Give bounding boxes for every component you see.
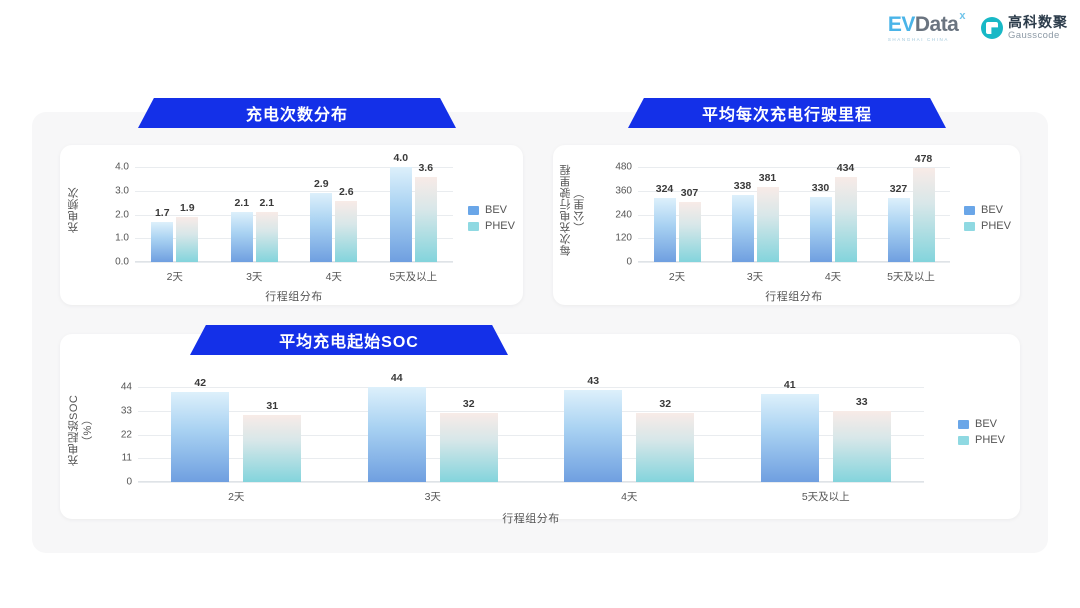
evdata-ev-text: EV [888, 14, 915, 35]
x-axis-label: 行程组分布 [638, 288, 950, 304]
bar-bev[interactable]: 324 [654, 198, 676, 262]
y-axis-ticks: 0120240360480 [596, 158, 632, 262]
legend-label-phev: PHEV [485, 220, 515, 232]
chart-legend: BEVPHEV [468, 204, 515, 232]
bar-value-label: 2.1 [259, 197, 274, 209]
y-axis-ticks: 0.01.02.03.04.0 [93, 158, 129, 262]
bar-groups: 4231443243324133 [138, 378, 924, 482]
y-axis-tick-label: 0 [126, 477, 132, 488]
bar-value-label: 307 [681, 187, 699, 199]
chart-legend: BEVPHEV [958, 418, 1005, 446]
legend-item-bev[interactable]: BEV [964, 204, 1011, 216]
evdata-data-text: Data [915, 14, 959, 35]
plot-area: 324307338381330434327478 [638, 158, 950, 262]
y-axis-tick-label: 360 [615, 186, 632, 197]
bar-bev[interactable]: 2.1 [231, 212, 253, 262]
evdata-logo-icon: EV Data x SHANGHAI CHINA [888, 14, 965, 42]
bar-value-label: 381 [759, 172, 777, 184]
bar-group: 330434 [794, 158, 872, 262]
legend-item-phev[interactable]: PHEV [964, 220, 1011, 232]
x-axis-ticks: 2天3天4天5天及以上 [135, 269, 453, 284]
x-axis-tick-label: 3天 [716, 269, 794, 284]
legend-swatch-bev [958, 420, 969, 429]
bar-phev[interactable]: 434 [835, 177, 857, 262]
gausscode-wordmark: 高科数聚 Gausscode [1008, 15, 1068, 41]
bar-value-label: 434 [837, 162, 855, 174]
legend-swatch-bev [964, 206, 975, 215]
bar-value-label: 31 [266, 400, 278, 412]
bar-bev[interactable]: 338 [732, 195, 754, 262]
y-axis-tick-label: 11 [122, 453, 132, 464]
bar-group: 4231 [138, 378, 335, 482]
x-axis-tick-label: 2天 [638, 269, 716, 284]
bar-value-label: 4.0 [393, 152, 408, 164]
x-axis-label: 行程组分布 [135, 288, 453, 304]
bar-phev[interactable]: 478 [913, 168, 935, 262]
bar-group: 4332 [531, 378, 728, 482]
y-axis-tick-label: 22 [121, 429, 132, 440]
gridline [638, 262, 950, 263]
bar-bev[interactable]: 330 [810, 197, 832, 262]
chart-title-banner-charging-frequency: 充电次数分布 [138, 98, 456, 128]
bar-groups: 1.71.92.12.12.92.64.03.6 [135, 158, 453, 262]
bar-group: 327478 [872, 158, 950, 262]
legend-item-bev[interactable]: BEV [468, 204, 515, 216]
x-axis-tick-label: 2天 [135, 269, 215, 284]
bar-value-label: 2.9 [314, 178, 329, 190]
bar-bev[interactable]: 43 [564, 390, 622, 482]
bar-phev[interactable]: 2.1 [256, 212, 278, 262]
bar-value-label: 41 [784, 379, 796, 391]
bar-value-label: 1.7 [155, 207, 170, 219]
bar-bev[interactable]: 327 [888, 198, 910, 262]
evdata-wordmark: EV Data x [888, 14, 965, 35]
x-axis-ticks: 2天3天4天5天及以上 [138, 489, 924, 504]
bar-phev[interactable]: 3.6 [415, 177, 437, 262]
chart-avg-start-soc: 充电起始SOC（%）01122334442314432433241332天3天4… [60, 352, 1030, 532]
x-axis-tick-label: 5天及以上 [872, 269, 950, 284]
bar-phev[interactable]: 307 [679, 202, 701, 262]
plot-area: 1.71.92.12.12.92.64.03.6 [135, 158, 453, 262]
bar-value-label: 327 [890, 183, 908, 195]
x-axis-tick-label: 4天 [294, 269, 374, 284]
y-axis-ticks: 011223344 [96, 378, 132, 482]
gausscode-logo-icon: 高科数聚 Gausscode [981, 15, 1068, 41]
legend-item-phev[interactable]: PHEV [468, 220, 515, 232]
x-axis-tick-label: 3天 [335, 489, 532, 504]
bar-bev[interactable]: 41 [761, 394, 819, 482]
y-axis-tick-label: 3.0 [115, 186, 129, 197]
bar-bev[interactable]: 42 [171, 392, 229, 482]
y-axis-tick-label: 1.0 [115, 233, 129, 244]
legend-label-bev: BEV [485, 204, 507, 216]
x-axis-label: 行程组分布 [138, 510, 924, 526]
y-axis-tick-label: 33 [121, 406, 132, 417]
bar-phev[interactable]: 32 [440, 413, 498, 482]
bar-group: 4.03.6 [374, 158, 454, 262]
y-axis-tick-label: 480 [615, 162, 632, 173]
bar-value-label: 3.6 [418, 162, 433, 174]
bar-group: 4133 [728, 378, 925, 482]
bar-value-label: 478 [915, 153, 933, 165]
y-axis-label-text: 充电起始SOC [68, 394, 80, 465]
y-axis-tick-label: 0.0 [115, 257, 129, 268]
y-axis-tick-label: 44 [121, 382, 132, 393]
bar-bev[interactable]: 44 [368, 387, 426, 482]
bar-group: 324307 [638, 158, 716, 262]
legend-item-bev[interactable]: BEV [958, 418, 1005, 430]
bar-group: 2.12.1 [215, 158, 295, 262]
legend-label-phev: PHEV [981, 220, 1011, 232]
y-axis-label-text: 充电频次 [68, 187, 80, 233]
chart-title-banner-avg-distance: 平均每次充电行驶里程 [628, 98, 946, 128]
bar-phev[interactable]: 33 [833, 411, 891, 482]
gausscode-en-text: Gausscode [1008, 31, 1068, 41]
chart-avg-distance-per-charge: 每次充电行驶里程（公里）0120240360480324307338381330… [552, 140, 1030, 310]
bar-phev[interactable]: 31 [243, 415, 301, 482]
bar-value-label: 33 [856, 396, 868, 408]
bar-phev[interactable]: 1.9 [176, 217, 198, 262]
bar-value-label: 32 [659, 398, 671, 410]
bar-value-label: 43 [587, 375, 599, 387]
x-axis-tick-label: 3天 [215, 269, 295, 284]
y-axis-tick-label: 2.0 [115, 209, 129, 220]
bar-value-label: 338 [734, 180, 752, 192]
bar-group: 4432 [335, 378, 532, 482]
y-axis-tick-label: 240 [615, 209, 632, 220]
chart-charging-frequency: 充电频次0.01.02.03.04.01.71.92.12.12.92.64.0… [60, 140, 530, 310]
chart-title-banner-avg-start-soc: 平均充电起始SOC [190, 325, 508, 355]
bar-value-label: 330 [812, 182, 830, 194]
legend-label-bev: BEV [981, 204, 1003, 216]
bar-value-label: 324 [656, 183, 674, 195]
bar-phev[interactable]: 32 [636, 413, 694, 482]
y-axis-label-text: 每次充电行驶里程 [560, 164, 572, 256]
brand-bar: EV Data x SHANGHAI CHINA 高科数聚 Gausscode [888, 14, 1068, 42]
legend-item-phev[interactable]: PHEV [958, 434, 1005, 446]
x-axis-tick-label: 4天 [794, 269, 872, 284]
bar-value-label: 32 [463, 398, 475, 410]
legend-swatch-phev [958, 436, 969, 445]
bar-value-label: 2.1 [234, 197, 249, 209]
bar-value-label: 42 [194, 377, 206, 389]
legend-label-bev: BEV [975, 418, 997, 430]
x-axis-tick-label: 4天 [531, 489, 728, 504]
bar-value-label: 2.6 [339, 186, 354, 198]
bar-bev[interactable]: 2.9 [310, 193, 332, 262]
bar-value-label: 1.9 [180, 202, 195, 214]
bar-group: 2.92.6 [294, 158, 374, 262]
legend-swatch-phev [468, 222, 479, 231]
x-axis-ticks: 2天3天4天5天及以上 [638, 269, 950, 284]
y-axis-label: 每次充电行驶里程（公里） [560, 158, 594, 262]
legend-swatch-bev [468, 206, 479, 215]
y-axis-label-unit: （%） [82, 413, 94, 446]
bar-bev[interactable]: 4.0 [390, 167, 412, 262]
y-axis-tick-label: 120 [615, 233, 632, 244]
y-axis-tick-label: 0 [626, 257, 632, 268]
y-axis-tick-label: 4.0 [115, 162, 129, 173]
chart-legend: BEVPHEV [964, 204, 1011, 232]
gridline [135, 262, 453, 263]
legend-label-phev: PHEV [975, 434, 1005, 446]
bar-group: 338381 [716, 158, 794, 262]
plot-area: 4231443243324133 [138, 378, 924, 482]
bar-phev[interactable]: 2.6 [335, 201, 357, 262]
bar-group: 1.71.9 [135, 158, 215, 262]
x-axis-tick-label: 5天及以上 [374, 269, 454, 284]
gausscode-g-mark-icon [981, 17, 1003, 39]
bar-value-label: 44 [391, 372, 403, 384]
x-axis-tick-label: 5天及以上 [728, 489, 925, 504]
x-axis-tick-label: 2天 [138, 489, 335, 504]
bar-bev[interactable]: 1.7 [151, 222, 173, 262]
gausscode-cn-text: 高科数聚 [1008, 15, 1068, 29]
evdata-x-mark-icon: x [959, 11, 965, 22]
bar-phev[interactable]: 381 [757, 187, 779, 262]
y-axis-label-unit: （公里） [574, 187, 586, 233]
bar-groups: 324307338381330434327478 [638, 158, 950, 262]
gridline [138, 482, 924, 483]
legend-swatch-phev [964, 222, 975, 231]
evdata-subtitle: SHANGHAI CHINA [888, 37, 949, 42]
